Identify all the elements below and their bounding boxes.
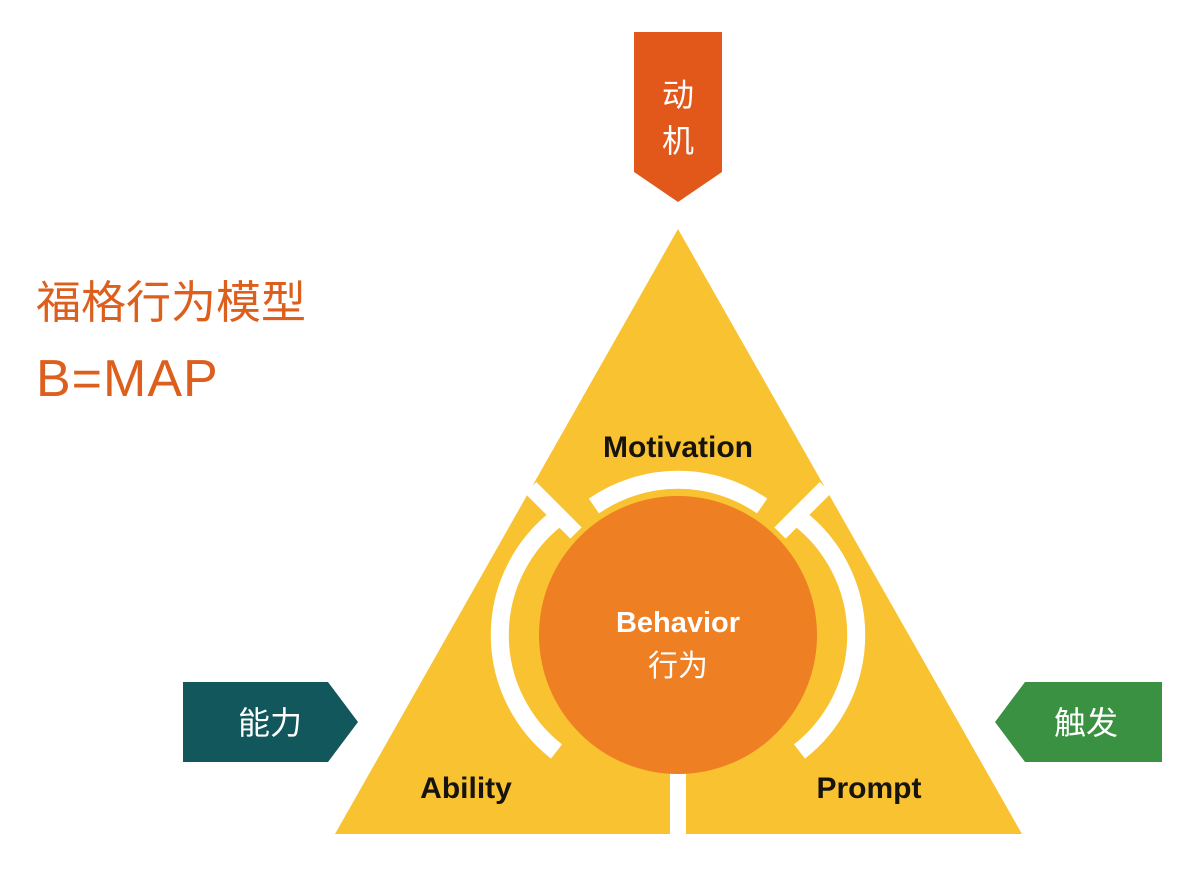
arrow-prompt-label: 触发	[1054, 704, 1118, 742]
triangle-label-ability: Ability	[420, 772, 512, 805]
arrow-ability-label: 能力	[238, 704, 302, 742]
fogg-behavior-model-diagram: 动 机 Behavior 行为 Motivation Abi	[0, 0, 1200, 871]
center-circle-behavior[interactable]: Behavior 行为	[539, 496, 817, 774]
diagram-title: 福格行为模型 B=MAP	[36, 276, 306, 408]
title-line-chinese: 福格行为模型	[36, 276, 306, 329]
arrow-ability[interactable]: 能力	[183, 682, 358, 762]
title-line-formula: B=MAP	[36, 350, 219, 408]
triangle-label-prompt: Prompt	[817, 772, 922, 805]
diagram-canvas: 动 机 Behavior 行为 Motivation Abi	[0, 0, 1200, 871]
arrow-motivation-label-char-2: 机	[662, 122, 694, 160]
arrow-motivation-shape	[634, 32, 722, 202]
triangle-label-motivation: Motivation	[603, 431, 753, 464]
arrow-motivation-label-char-1: 动	[662, 76, 694, 114]
arrow-prompt[interactable]: 触发	[995, 682, 1162, 762]
center-label-cn: 行为	[648, 649, 708, 684]
center-label-en: Behavior	[616, 607, 740, 639]
arrow-motivation[interactable]: 动 机	[634, 32, 722, 202]
